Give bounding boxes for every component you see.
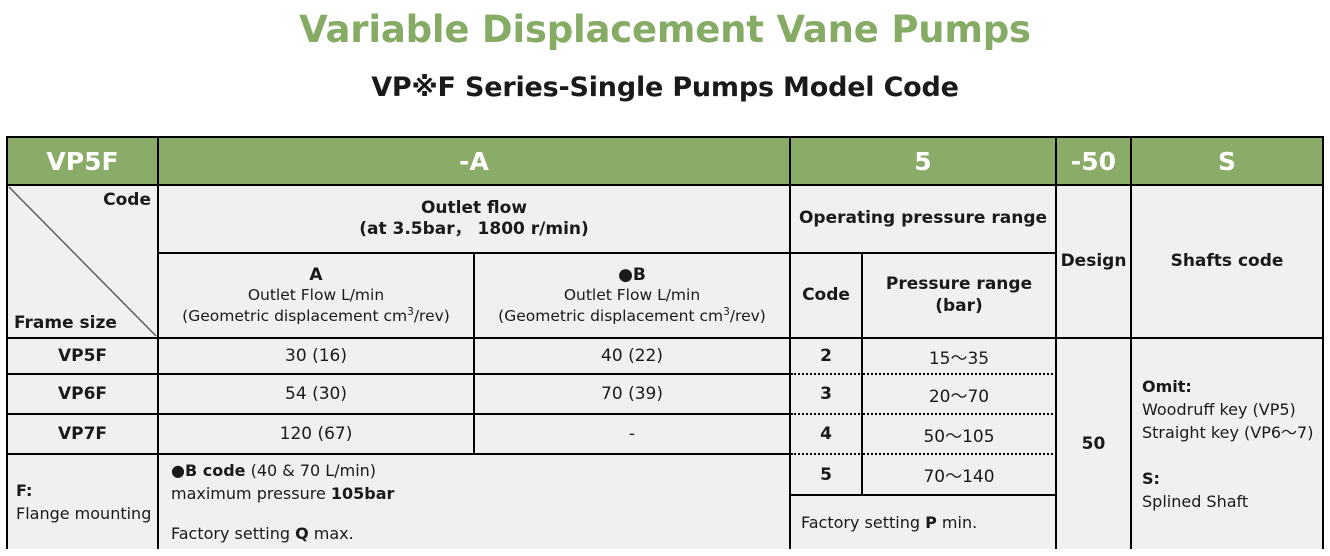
shafts-code-header: Shafts code (1171, 251, 1284, 272)
flow-value-a: 120 (67) (280, 424, 353, 444)
design-header: Design (1061, 251, 1127, 272)
table-cell-vp6f-b: 70 (39) (475, 375, 791, 415)
page-subtitle: VP※F Series-Single Pumps Model Code (0, 72, 1330, 103)
pressure-range-value: 70～140 (923, 462, 994, 487)
frame-label: VP5F (58, 346, 107, 366)
pressure-range-title-cell: Operating pressure range (791, 186, 1057, 254)
table-cell-vp6f-a: 54 (30) (159, 375, 475, 415)
corner-frame-size-label: Frame size (14, 313, 117, 333)
table-row-frame-vp6f: VP6F (8, 375, 159, 415)
flange-mounting-text: Flange mounting (16, 502, 151, 525)
pressure-code-header: Code (802, 285, 850, 306)
pressure-range-value: 15～35 (929, 344, 989, 369)
outlet-flow-subtitle: (at 3.5bar， 1800 r/min) (359, 219, 589, 240)
header-design-label: -50 (1071, 147, 1116, 176)
outlet-flow-title: Outlet flow (421, 198, 527, 219)
pressure-range-header-line2: (bar) (935, 296, 983, 317)
column-b-code: ●B (618, 265, 646, 285)
frame-label: VP6F (58, 384, 107, 404)
design-value: 50 (1082, 434, 1106, 454)
design-value-cell: 50 (1057, 339, 1132, 549)
header-pressure: 5 (791, 138, 1057, 186)
header-frame-size: VP5F (8, 138, 159, 186)
pressure-code-header-cell: Code (791, 254, 863, 339)
column-b-line1: Outlet Flow L/min (564, 285, 700, 305)
pressure-range-header-cell: Pressure range (bar) (863, 254, 1057, 339)
bcode-note-line1: ●B code (40 & 70 L/min) (171, 459, 376, 482)
shafts-splined-line1: Splined Shaft (1142, 490, 1248, 513)
page-title: Variable Displacement Vane Pumps (0, 8, 1330, 51)
outlet-flow-column-b-header: ●B Outlet Flow L/min (Geometric displace… (475, 254, 791, 339)
pressure-range-3: 20～70 (863, 375, 1057, 415)
design-header-cell: Design (1057, 186, 1132, 339)
flange-mounting-label: F: (16, 479, 32, 502)
shafts-code-body-cell: Omit: Woodruff key (VP5) Straight key (V… (1132, 339, 1322, 549)
table-cell-vp7f-b: - (475, 415, 791, 455)
pressure-footer-text: Factory setting P min. (801, 511, 977, 534)
pressure-code-5: 5 (791, 455, 863, 496)
pressure-range-value: 50～105 (923, 422, 994, 447)
shafts-omit-line2: Straight key (VP6～7) (1142, 421, 1313, 444)
shafts-omit-line1: Woodruff key (VP5) (1142, 398, 1296, 421)
pressure-footer-cell: Factory setting P min. (791, 496, 1057, 549)
pressure-code-4: 4 (791, 415, 863, 455)
shafts-omit-label: Omit: (1142, 375, 1192, 398)
pressure-code-value: 3 (820, 384, 832, 404)
table-row-frame-vp5f: VP5F (8, 339, 159, 375)
pressure-code-value: 2 (820, 346, 832, 366)
header-shaft: S (1132, 138, 1322, 186)
bcode-note-line2: maximum pressure 105bar (171, 482, 394, 505)
bcode-note-line3: Factory setting Q max. (171, 522, 354, 545)
flow-value-b: - (629, 424, 635, 444)
corner-code-label: Code (103, 190, 151, 210)
pressure-code-value: 4 (820, 424, 832, 444)
flange-mounting-cell: F: Flange mounting (8, 455, 159, 549)
column-b-line2: (Geometric displacement cm3/rev) (498, 306, 766, 326)
model-code-sheet: Variable Displacement Vane Pumps VP※F Se… (0, 0, 1330, 556)
flow-value-b: 40 (22) (601, 346, 663, 366)
table-cell-vp7f-a: 120 (67) (159, 415, 475, 455)
pressure-range-2: 15～35 (863, 339, 1057, 375)
outlet-flow-title-cell: Outlet flow (at 3.5bar， 1800 r/min) (159, 186, 791, 254)
bcode-note-cell: ●B code (40 & 70 L/min) maximum pressure… (159, 455, 791, 549)
corner-diagonal-cell: Code Frame size (8, 186, 159, 339)
table-row-frame-vp7f: VP7F (8, 415, 159, 455)
header-outlet-flow: -A (159, 138, 791, 186)
table-cell-vp5f-a: 30 (16) (159, 339, 475, 375)
pressure-range-value: 20～70 (929, 382, 989, 407)
flow-value-a: 54 (30) (285, 384, 347, 404)
frame-label: VP7F (58, 424, 107, 444)
pressure-range-header-line1: Pressure range (886, 274, 1032, 295)
pressure-code-value: 5 (820, 465, 832, 485)
column-a-code: A (309, 265, 322, 285)
model-code-table: VP5F -A 5 -50 S Code Frame size Outlet f… (6, 136, 1324, 549)
flow-value-a: 30 (16) (285, 346, 347, 366)
header-outlet-flow-label: -A (459, 147, 489, 176)
table-cell-vp5f-b: 40 (22) (475, 339, 791, 375)
flow-value-b: 70 (39) (601, 384, 663, 404)
shafts-code-header-cell: Shafts code (1132, 186, 1322, 339)
pressure-code-3: 3 (791, 375, 863, 415)
header-frame-size-label: VP5F (46, 147, 118, 176)
pressure-range-4: 50～105 (863, 415, 1057, 455)
header-pressure-label: 5 (914, 147, 931, 176)
column-a-line1: Outlet Flow L/min (248, 285, 384, 305)
header-shaft-label: S (1218, 147, 1236, 176)
outlet-flow-column-a-header: A Outlet Flow L/min (Geometric displacem… (159, 254, 475, 339)
column-a-line2: (Geometric displacement cm3/rev) (182, 306, 450, 326)
pressure-range-5: 70～140 (863, 455, 1057, 496)
pressure-code-2: 2 (791, 339, 863, 375)
shafts-splined-label: S: (1142, 467, 1160, 490)
header-design: -50 (1057, 138, 1132, 186)
pressure-range-title: Operating pressure range (799, 208, 1047, 229)
